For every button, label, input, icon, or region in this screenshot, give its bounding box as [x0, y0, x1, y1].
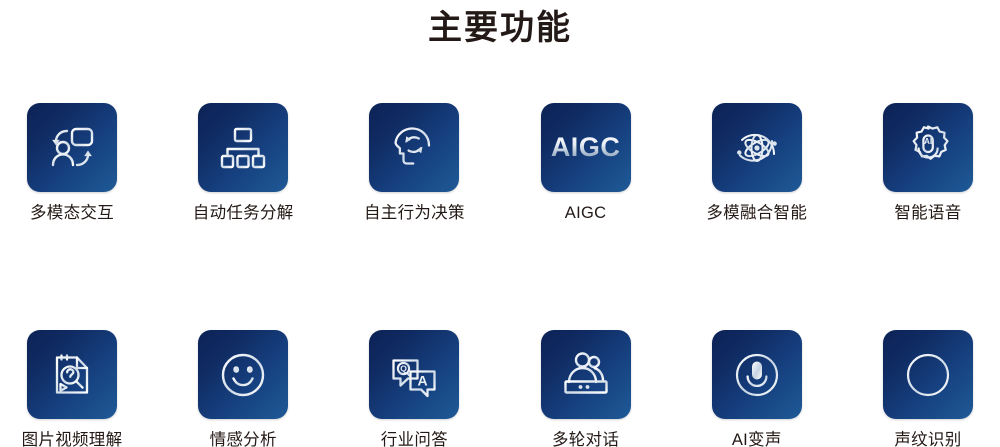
feature-label: 声纹识别 — [894, 430, 961, 447]
q-label: Q — [401, 363, 408, 373]
feature-item-autonomous-decision[interactable]: 自主行为决策 — [369, 103, 459, 223]
feature-item-aigc[interactable]: AIGC AIGC — [541, 103, 631, 223]
smiley-face-icon — [215, 347, 271, 403]
task-decomposition-tree-icon — [215, 120, 271, 176]
ai-label: AI — [924, 137, 932, 146]
feature-label: 图片视频理解 — [22, 430, 123, 447]
feature-tile[interactable] — [541, 330, 631, 419]
two-people-table-icon — [557, 349, 615, 401]
feature-label: 多模融合智能 — [706, 203, 807, 223]
document-magnifier-question-icon — [45, 347, 99, 403]
feature-item-smart-voice[interactable]: AI 智能语音 — [883, 103, 973, 223]
aigc-text-icon: AIGC — [551, 132, 621, 163]
atom-orbit-icon — [728, 119, 786, 177]
feature-tile[interactable]: AI — [883, 103, 973, 192]
feature-tile[interactable] — [27, 103, 117, 192]
feature-tile[interactable] — [369, 103, 459, 192]
feature-tile[interactable]: AIGC — [541, 103, 631, 192]
voiceprint-waveform-icon — [900, 347, 956, 403]
feature-tile[interactable] — [883, 330, 973, 419]
feature-label: 自主行为决策 — [364, 203, 465, 223]
feature-item-multimodal-interaction[interactable]: 多模态交互 — [27, 103, 117, 223]
feature-item-image-video-understanding[interactable]: 图片视频理解 — [27, 330, 117, 447]
feature-row-1: 多模态交互 — [27, 103, 973, 223]
feature-item-multimodal-fusion[interactable]: 多模融合智能 — [712, 103, 802, 223]
feature-item-task-decomposition[interactable]: 自动任务分解 — [198, 103, 288, 223]
feature-label: 行业问答 — [381, 430, 448, 447]
page-title: 主要功能 — [0, 4, 1000, 52]
feature-tile[interactable] — [27, 330, 117, 419]
feature-label: 智能语音 — [894, 203, 961, 223]
a-label: A — [418, 372, 428, 388]
feature-label: 多模态交互 — [30, 203, 114, 223]
feature-item-voiceprint-recognition[interactable]: 声纹识别 — [883, 330, 973, 447]
feature-label: 情感分析 — [210, 430, 277, 447]
feature-tile[interactable] — [198, 103, 288, 192]
feature-grid: 多模态交互 — [27, 103, 973, 447]
feature-tile[interactable] — [712, 103, 802, 192]
microphone-circle-icon — [729, 347, 785, 403]
feature-label: AIGC — [565, 203, 607, 223]
feature-item-multi-turn-dialogue[interactable]: 多轮对话 — [541, 330, 631, 447]
feature-overview-page: 主要功能 — [0, 0, 1000, 447]
feature-item-industry-qa[interactable]: Q A 行业问答 — [369, 330, 459, 447]
head-decision-cycle-icon — [386, 120, 442, 176]
feature-tile[interactable] — [198, 330, 288, 419]
feature-label: 自动任务分解 — [193, 203, 294, 223]
multimodal-interaction-icon — [43, 119, 101, 177]
feature-label: AI变声 — [732, 430, 782, 447]
feature-label: 多轮对话 — [552, 430, 619, 447]
feature-item-sentiment-analysis[interactable]: 情感分析 — [198, 330, 288, 447]
gear-microphone-ai-icon: AI — [900, 120, 956, 176]
qa-speech-bubbles-icon: Q A — [385, 348, 443, 402]
feature-tile[interactable] — [712, 330, 802, 419]
feature-item-ai-voice-change[interactable]: AI变声 — [712, 330, 802, 447]
feature-row-2: 图片视频理解 — [27, 330, 973, 447]
feature-tile[interactable]: Q A — [369, 330, 459, 419]
